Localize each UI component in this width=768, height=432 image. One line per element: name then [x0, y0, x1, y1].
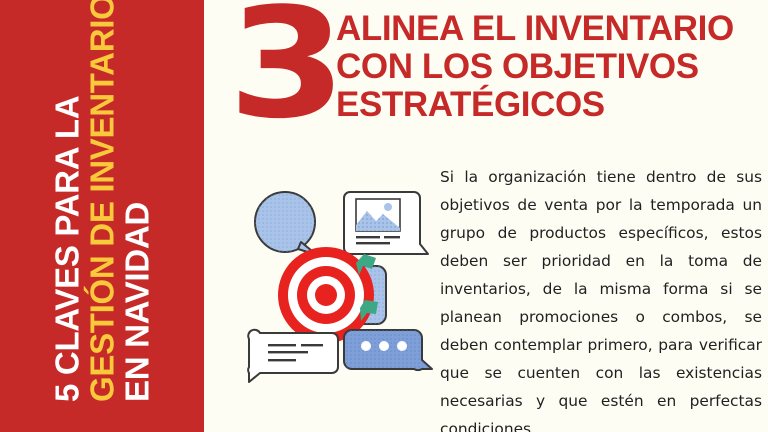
body-paragraph: Si la organización tiene dentro de sus o… [440, 163, 762, 432]
sidebar-banner: 5 CLAVES PARA LA GESTIÓN DE INVENTARIOS … [0, 0, 204, 432]
sidebar-rotated-title: 5 CLAVES PARA LA GESTIÓN DE INVENTARIOS … [50, 0, 155, 432]
page-title: ALINEA EL INVENTARIO CON LOS OBJETIVOS E… [336, 10, 734, 124]
text-speech-bubble-icon [248, 330, 338, 382]
page-title-line-3: ESTRATÉGICOS [336, 86, 734, 124]
illustration-goal-target [238, 178, 434, 394]
sidebar-title-line-2: GESTIÓN DE INVENTARIOS [85, 0, 120, 432]
page-title-line-1: ALINEA EL INVENTARIO [336, 10, 734, 48]
sidebar-title-line-3: EN NAVIDAD [120, 0, 155, 432]
headline-block: 3 ALINEA EL INVENTARIO CON LOS OBJETIVOS… [228, 2, 734, 124]
typing-indicator-bubble-icon [344, 330, 432, 370]
page-title-line-2: CON LOS OBJETIVOS [336, 48, 734, 86]
step-number: 3 [228, 4, 324, 124]
round-speech-bubble-icon [238, 178, 317, 255]
image-card-icon [344, 192, 428, 254]
sidebar-title-line-1: 5 CLAVES PARA LA [50, 0, 85, 432]
slide-canvas: 5 CLAVES PARA LA GESTIÓN DE INVENTARIOS … [0, 0, 768, 432]
